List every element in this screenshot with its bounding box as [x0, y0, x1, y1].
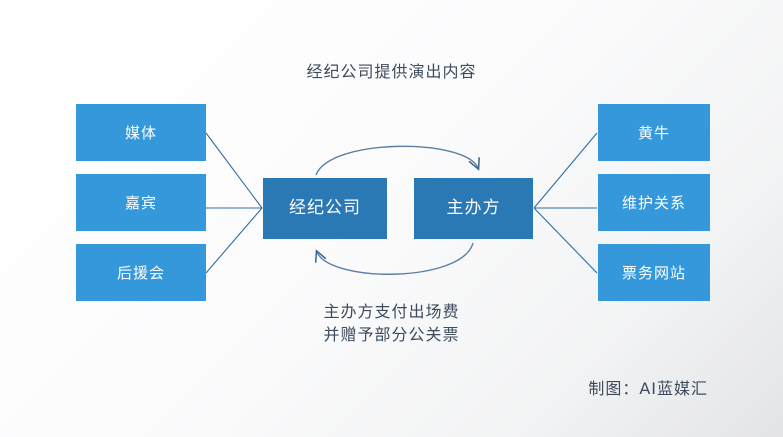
node-organizer[interactable]: 主办方 — [414, 178, 533, 239]
diagram-canvas: 经纪公司提供演出内容 媒体 嘉宾 — [0, 0, 783, 437]
top-caption: 经纪公司提供演出内容 — [0, 60, 783, 83]
credit-line: 制图：AI蓝媒汇 — [0, 375, 783, 399]
connector-fanclub-to-agency — [206, 208, 262, 273]
node-media-label: 媒体 — [125, 124, 157, 142]
node-fanclub-label: 后援会 — [117, 264, 165, 282]
connector-media-to-agency — [206, 133, 262, 208]
node-scalper[interactable]: 黄牛 — [598, 104, 710, 161]
node-fanclub[interactable]: 后援会 — [76, 244, 206, 301]
connector-organizer-to-ticket — [534, 208, 597, 273]
node-media[interactable]: 媒体 — [76, 104, 206, 161]
node-relation[interactable]: 维护关系 — [598, 174, 710, 231]
connector-organizer-to-scalper — [534, 133, 597, 208]
right-connector-group — [534, 133, 597, 273]
node-ticket-label: 票务网站 — [622, 264, 686, 282]
node-guest[interactable]: 嘉宾 — [76, 174, 206, 231]
node-organizer-label: 主办方 — [447, 198, 501, 218]
node-guest-label: 嘉宾 — [125, 194, 157, 212]
curved-arrow-agency-to-organizer — [316, 146, 478, 175]
node-ticket[interactable]: 票务网站 — [598, 244, 710, 301]
node-relation-label: 维护关系 — [622, 194, 686, 212]
curved-arrow-organizer-to-agency — [317, 243, 473, 274]
left-connector-group — [206, 133, 262, 273]
node-agency[interactable]: 经纪公司 — [263, 178, 387, 239]
bottom-caption: 主办方支付出场费 并赠予部分公关票 — [0, 300, 783, 346]
node-scalper-label: 黄牛 — [638, 124, 670, 142]
node-agency-label: 经纪公司 — [289, 198, 361, 218]
